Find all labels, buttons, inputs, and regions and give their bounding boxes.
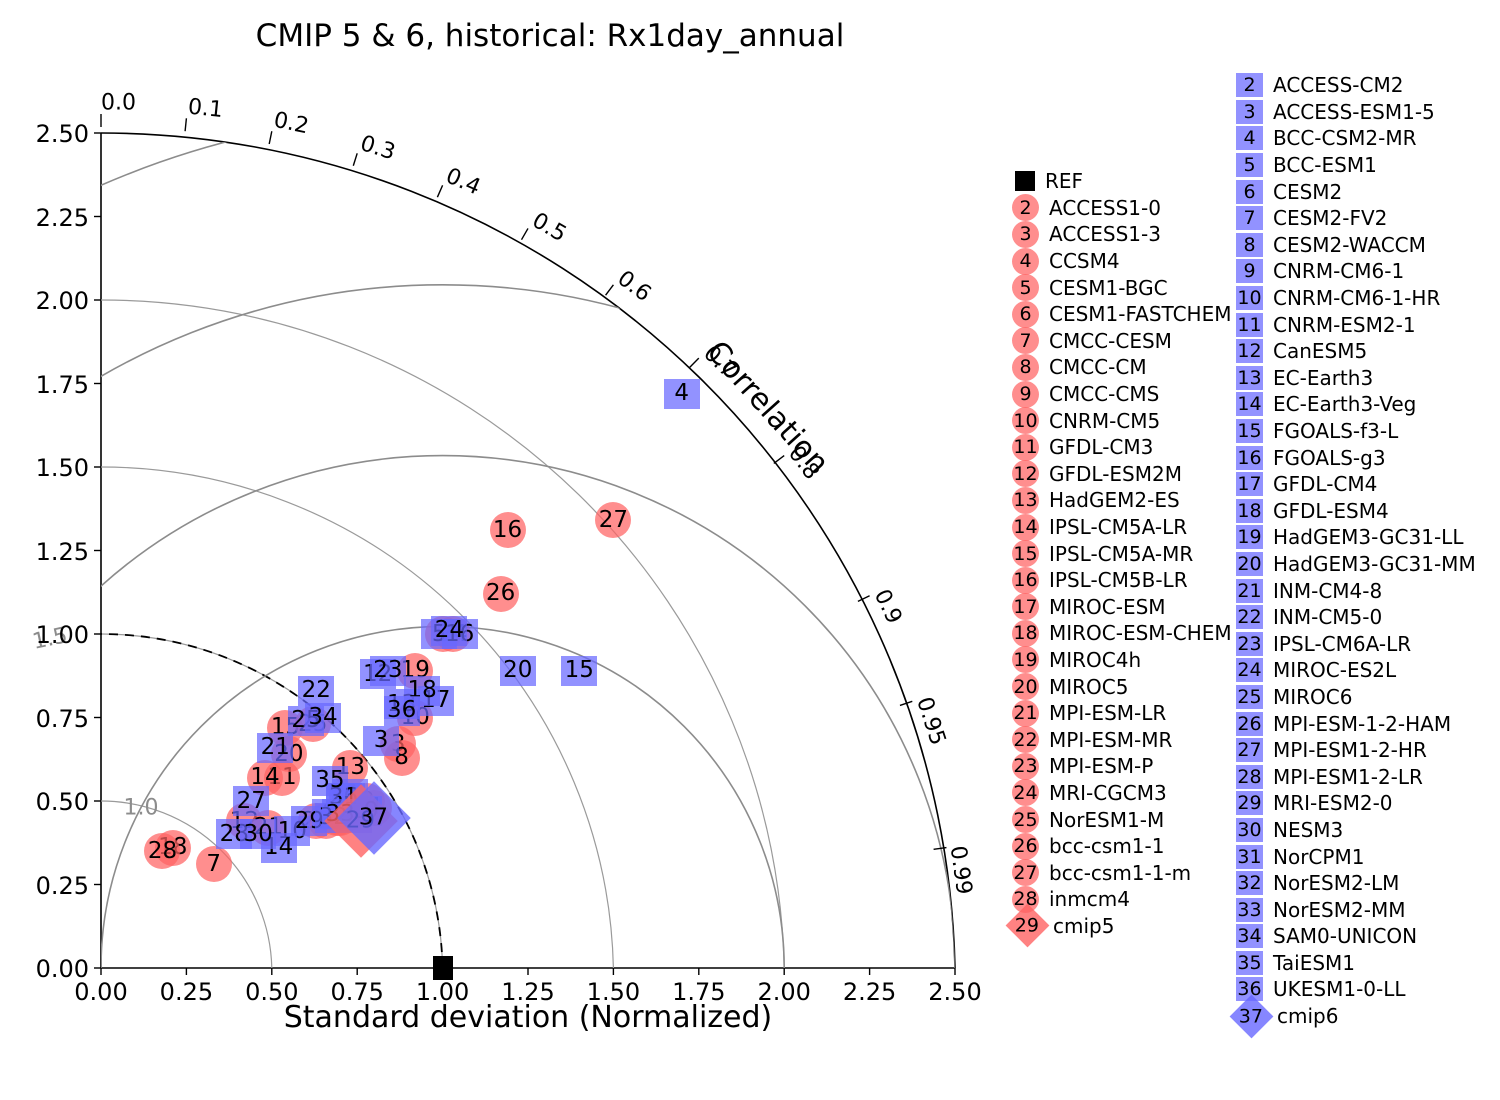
legend-item-label: INM-CM4-8 — [1273, 579, 1382, 603]
legend-item-label: GFDL-ESM4 — [1273, 499, 1389, 523]
legend-item-9[interactable]: 9CNRM-CM6-1 — [1236, 258, 1476, 285]
legend-item-label: FGOALS-f3-L — [1273, 419, 1398, 443]
legend-item-4[interactable]: 4CCSM4 — [1012, 248, 1232, 275]
legend-item-label: IPSL-CM6A-LR — [1273, 632, 1411, 656]
cmip6-square-icon: 22 — [1236, 605, 1263, 629]
legend-item-22[interactable]: 22MPI-ESM-MR — [1012, 726, 1232, 753]
data-point-label: 26 — [486, 582, 515, 605]
ref-square-icon — [1015, 171, 1035, 191]
legend-item-label: REF — [1045, 169, 1083, 193]
cmip6-square-icon: 13 — [1236, 366, 1263, 390]
cmip6-square-icon: 4 — [1236, 126, 1263, 150]
cmip6-square-icon: 7 — [1236, 206, 1263, 230]
legend-item-6[interactable]: 6CESM1-FASTCHEM — [1012, 301, 1232, 328]
cmip6-square-icon: 2 — [1236, 73, 1263, 97]
legend-item-5[interactable]: 5CESM1-BGC — [1012, 274, 1232, 301]
data-point-label: 23 — [373, 659, 402, 682]
legend-item-26[interactable]: 26bcc-csm1-1 — [1012, 833, 1232, 860]
legend-item-label: EC-Earth3 — [1273, 366, 1373, 390]
legend-item-10[interactable]: 10CNRM-CM5 — [1012, 407, 1232, 434]
cmip5-circle-icon: 20 — [1012, 673, 1039, 700]
legend-item-19[interactable]: 19HadGEM3-GC31-LL — [1236, 524, 1476, 551]
legend-item-label: MRI-ESM2-0 — [1273, 791, 1393, 815]
data-point-label: 34 — [308, 706, 337, 729]
cmip5-circle-icon: 8 — [1012, 354, 1039, 381]
legend-item-label: MIROC4h — [1049, 648, 1141, 672]
legend-item-label: CNRM-CM5 — [1049, 409, 1160, 433]
legend-item-11[interactable]: 11GFDL-CM3 — [1012, 434, 1232, 461]
legend-item-21[interactable]: 21INM-CM4-8 — [1236, 577, 1476, 604]
legend-item-37[interactable]: 37cmip6 — [1236, 1003, 1476, 1030]
correlation-tick — [437, 185, 442, 197]
legend-item-8[interactable]: 8CESM2-WACCM — [1236, 232, 1476, 259]
legend-item-12[interactable]: 12GFDL-ESM2M — [1012, 461, 1232, 488]
data-point-label: 27 — [599, 509, 628, 532]
legend-item-14[interactable]: 14EC-Earth3-Veg — [1236, 391, 1476, 418]
y-tick-label: 0.25 — [0, 872, 89, 900]
legend-item-label: GFDL-CM3 — [1049, 435, 1153, 459]
legend-item-label: CESM1-FASTCHEM — [1049, 302, 1231, 326]
data-point-22[interactable]: 22 — [298, 676, 334, 706]
cmip6-square-icon: 19 — [1236, 525, 1263, 549]
cmip6-square-icon: 25 — [1236, 685, 1263, 709]
legend-item-label: IPSL-CM5A-MR — [1049, 542, 1193, 566]
data-point-21[interactable]: 21 — [257, 733, 293, 763]
cmip6-square-icon: 21 — [1236, 579, 1263, 603]
legend-item-28[interactable]: 28inmcm4 — [1012, 886, 1232, 913]
legend-item-label: bcc-csm1-1-m — [1049, 861, 1191, 885]
legend-cmip5: REF2ACCESS1-03ACCESS1-34CCSM45CESM1-BGC6… — [1012, 168, 1232, 939]
legend-item-label: cmip6 — [1277, 1004, 1338, 1028]
legend-item-8[interactable]: 8CMCC-CM — [1012, 354, 1232, 381]
cmip5-circle-icon: 3 — [1012, 221, 1039, 248]
legend-item-label: MRI-CGCM3 — [1049, 781, 1167, 805]
legend-item-label: CMCC-CM — [1049, 355, 1147, 379]
legend-item-13[interactable]: 13HadGEM2-ES — [1012, 487, 1232, 514]
legend-item-label: CNRM-CM6-1-HR — [1273, 286, 1440, 310]
data-point-36[interactable]: 36 — [384, 696, 420, 726]
legend-item-label: BCC-ESM1 — [1273, 153, 1377, 177]
cmip6-square-icon: 16 — [1236, 446, 1263, 470]
legend-item-16[interactable]: 16FGOALS-g3 — [1236, 444, 1476, 471]
rms-arc-label: 1.0 — [123, 795, 158, 820]
legend-item-32[interactable]: 32NorESM2-LM — [1236, 870, 1476, 897]
legend-item-10[interactable]: 10CNRM-CM6-1-HR — [1236, 285, 1476, 312]
cmip5-circle-icon: 11 — [1012, 434, 1039, 461]
cmip6-square-icon: 32 — [1236, 871, 1263, 895]
cmip5-circle-icon: 26 — [1012, 833, 1039, 860]
legend-item-label: HadGEM3-GC31-LL — [1273, 525, 1463, 549]
data-point-35[interactable]: 35 — [312, 766, 348, 796]
legend-item-label: MPI-ESM-LR — [1049, 701, 1166, 725]
legend-item-25[interactable]: 25MIROC6 — [1236, 684, 1476, 711]
cmip5-circle-icon: 5 — [1012, 274, 1039, 301]
cmip5-circle-icon: 14 — [1012, 514, 1039, 541]
legend-item-label: CESM2 — [1273, 180, 1342, 204]
cmip6-square-icon: 31 — [1236, 845, 1263, 869]
data-point-label: 30 — [243, 823, 272, 846]
legend-item-label: SAM0-UNICON — [1273, 924, 1417, 948]
legend-item-label: MPI-ESM-P — [1049, 754, 1153, 778]
data-point-label: 3 — [374, 729, 389, 752]
legend-item-label: INM-CM5-0 — [1273, 605, 1382, 629]
legend-item-label: ACCESS-CM2 — [1273, 73, 1403, 97]
legend-item-label: UKESM1-0-LL — [1273, 977, 1406, 1001]
legend-item-15[interactable]: 15IPSL-CM5A-MR — [1012, 540, 1232, 567]
data-point-label: 36 — [387, 699, 416, 722]
y-tick-label: 2.00 — [0, 287, 89, 315]
legend-item-24[interactable]: 24MRI-CGCM3 — [1012, 780, 1232, 807]
cmip6-square-icon: 8 — [1236, 233, 1263, 257]
legend-item-26[interactable]: 26MPI-ESM-1-2-HAM — [1236, 710, 1476, 737]
x-axis-label: Standard deviation (Normalized) — [101, 1000, 955, 1035]
cmip6-square-icon: 28 — [1236, 765, 1263, 789]
legend-item-7[interactable]: 7CMCC-CESM — [1012, 328, 1232, 355]
legend-item-label: MIROC-ESM — [1049, 595, 1166, 619]
legend-item-9[interactable]: 9CMCC-CMS — [1012, 381, 1232, 408]
y-tick-label: 1.25 — [0, 538, 89, 566]
legend-item-label: GFDL-CM4 — [1273, 472, 1377, 496]
correlation-tick — [269, 131, 272, 144]
legend-item-label: CESM2-FV2 — [1273, 206, 1387, 230]
legend-item-18[interactable]: 18MIROC-ESM-CHEM — [1012, 620, 1232, 647]
cmip5-circle-icon: 24 — [1012, 779, 1039, 806]
data-point-7[interactable]: 7 — [196, 846, 232, 882]
legend-item-20[interactable]: 20HadGEM3-GC31-MM — [1236, 551, 1476, 578]
legend-item-22[interactable]: 22INM-CM5-0 — [1236, 604, 1476, 631]
legend-item-3[interactable]: 3ACCESS-ESM1-5 — [1236, 99, 1476, 126]
cmip5-circle-icon: 10 — [1012, 407, 1039, 434]
legend-item-label: bcc-csm1-1 — [1049, 834, 1164, 858]
data-point-label: 27 — [237, 790, 266, 813]
legend-item-12[interactable]: 12CanESM5 — [1236, 338, 1476, 365]
data-point-label: 21 — [261, 736, 290, 759]
reference-marker[interactable] — [433, 956, 453, 980]
cmip6-square-icon: 17 — [1236, 472, 1263, 496]
legend-item-label: cmip5 — [1053, 914, 1114, 938]
data-point-label: 20 — [503, 659, 532, 682]
legend-item-11[interactable]: 11CNRM-ESM2-1 — [1236, 311, 1476, 338]
legend-item-16[interactable]: 16IPSL-CM5B-LR — [1012, 567, 1232, 594]
legend-item-4[interactable]: 4BCC-CSM2-MR — [1236, 125, 1476, 152]
legend-item-20[interactable]: 20MIROC5 — [1012, 673, 1232, 700]
legend-item-5[interactable]: 5BCC-ESM1 — [1236, 152, 1476, 179]
legend-item-ref[interactable]: REF — [1012, 168, 1232, 195]
data-point-4[interactable]: 4 — [664, 379, 700, 409]
legend-item-6[interactable]: 6CESM2 — [1236, 178, 1476, 205]
correlation-tick-label: 0.1 — [186, 95, 223, 123]
legend-item-label: inmcm4 — [1049, 887, 1130, 911]
data-point-label: 4 — [674, 382, 689, 405]
cmip6-square-icon: 23 — [1236, 632, 1263, 656]
cmip6-square-icon: 10 — [1236, 286, 1263, 310]
std-grid-arc — [101, 467, 613, 968]
legend-item-29[interactable]: 29MRI-ESM2-0 — [1236, 790, 1476, 817]
legend-item-34[interactable]: 34SAM0-UNICON — [1236, 923, 1476, 950]
legend-item-label: CESM2-WACCM — [1273, 233, 1426, 257]
legend-item-label: CNRM-CM6-1 — [1273, 259, 1404, 283]
legend-item-label: NorESM1-M — [1049, 808, 1164, 832]
data-point-label: 35 — [315, 769, 344, 792]
y-tick-label: 0.75 — [0, 705, 89, 733]
cmip5-circle-icon: 22 — [1012, 726, 1039, 753]
data-point-28[interactable]: 28 — [144, 833, 180, 869]
cmip6-square-icon: 11 — [1236, 313, 1263, 337]
legend-item-23[interactable]: 23MPI-ESM-P — [1012, 753, 1232, 780]
legend-item-label: ACCESS-ESM1-5 — [1273, 100, 1435, 124]
legend-item-label: HadGEM2-ES — [1049, 488, 1180, 512]
cmip5-circle-icon: 16 — [1012, 567, 1039, 594]
legend-item-label: CanESM5 — [1273, 339, 1367, 363]
cmip6-square-icon: 33 — [1236, 898, 1263, 922]
legend-item-label: MPI-ESM-MR — [1049, 728, 1172, 752]
cmip5-circle-icon: 15 — [1012, 540, 1039, 567]
cmip6-square-icon: 15 — [1236, 419, 1263, 443]
legend-item-27[interactable]: 27MPI-ESM1-2-HR — [1236, 737, 1476, 764]
cmip6-square-icon: 14 — [1236, 392, 1263, 416]
legend-item-25[interactable]: 25NorESM1-M — [1012, 806, 1232, 833]
data-point-label: 22 — [302, 679, 331, 702]
cmip5-circle-icon: 17 — [1012, 593, 1039, 620]
cmip6-square-icon: 3 — [1236, 100, 1263, 124]
legend-item-label: MIROC6 — [1273, 685, 1352, 709]
cmip6-square-icon: 20 — [1236, 552, 1263, 576]
legend-item-28[interactable]: 28MPI-ESM1-2-LR — [1236, 763, 1476, 790]
cmip6-square-icon: 34 — [1236, 924, 1263, 948]
legend-item-label: TaiESM1 — [1273, 951, 1355, 975]
y-tick-label: 0.50 — [0, 788, 89, 816]
cmip5-circle-icon: 4 — [1012, 248, 1039, 275]
data-point-label: 28 — [148, 840, 177, 863]
legend-item-3[interactable]: 3ACCESS1-3 — [1012, 221, 1232, 248]
cmip5-circle-icon: 7 — [1012, 327, 1039, 354]
taylor-diagram-page: CMIP 5 & 6, historical: Rx1day_annual 2.… — [0, 0, 1500, 1100]
legend-item-24[interactable]: 24MIROC-ES2L — [1236, 657, 1476, 684]
legend-item-label: ACCESS1-0 — [1049, 196, 1161, 220]
legend-item-label: MIROC-ES2L — [1273, 658, 1396, 682]
cmip5-circle-icon: 12 — [1012, 460, 1039, 487]
y-tick-label: 2.50 — [0, 120, 89, 148]
y-tick-label: 1.50 — [0, 454, 89, 482]
legend-item-label: CNRM-ESM2-1 — [1273, 313, 1416, 337]
legend-item-18[interactable]: 18GFDL-ESM4 — [1236, 498, 1476, 525]
data-point-label: 37 — [360, 806, 389, 829]
data-point-27[interactable]: 27 — [595, 502, 631, 538]
cmip5-circle-icon: 27 — [1012, 859, 1039, 886]
correlation-tick — [690, 358, 699, 367]
data-point-24[interactable]: 24 — [431, 616, 467, 646]
cmip6-square-icon: 26 — [1236, 712, 1263, 736]
legend-item-label: IPSL-CM5B-LR — [1049, 568, 1188, 592]
y-tick-label: 1.00 — [0, 621, 89, 649]
cmip6-square-icon: 18 — [1236, 499, 1263, 523]
y-tick-label: 0.00 — [0, 955, 89, 983]
legend-item-35[interactable]: 35TaiESM1 — [1236, 950, 1476, 977]
legend-item-label: GFDL-ESM2M — [1049, 462, 1182, 486]
y-tick-label: 1.75 — [0, 371, 89, 399]
legend-item-label: MPI-ESM1-2-HR — [1273, 738, 1427, 762]
legend-item-label: NorESM2-LM — [1273, 871, 1399, 895]
legend-item-2[interactable]: 2ACCESS1-0 — [1012, 195, 1232, 222]
data-point-label: 7 — [206, 853, 221, 876]
data-point-26[interactable]: 26 — [483, 576, 519, 612]
cmip6-square-icon: 9 — [1236, 259, 1263, 283]
cmip6-square-icon: 27 — [1236, 738, 1263, 762]
cmip6-square-icon: 6 — [1236, 180, 1263, 204]
cmip5-circle-icon: 2 — [1012, 194, 1039, 221]
legend-item-label: MIROC-ESM-CHEM — [1049, 621, 1232, 645]
legend-item-label: BCC-CSM2-MR — [1273, 126, 1417, 150]
legend-item-33[interactable]: 33NorESM2-MM — [1236, 896, 1476, 923]
data-point-label: 24 — [435, 619, 464, 642]
correlation-tick-label: 0.0 — [101, 91, 136, 116]
cmip6-square-icon: 30 — [1236, 818, 1263, 842]
data-point-15[interactable]: 15 — [561, 656, 597, 686]
legend-item-29[interactable]: 29cmip5 — [1012, 913, 1232, 940]
legend-item-21[interactable]: 21MPI-ESM-LR — [1012, 700, 1232, 727]
data-point-label: 16 — [493, 519, 522, 542]
correlation-tick — [522, 228, 529, 239]
legend-item-label: NorCPM1 — [1273, 845, 1364, 869]
legend-item-label: MPI-ESM-1-2-HAM — [1273, 712, 1451, 736]
legend-item-label: MIROC5 — [1049, 675, 1128, 699]
cmip6-square-icon: 24 — [1236, 658, 1263, 682]
legend-item-label: IPSL-CM5A-LR — [1049, 515, 1187, 539]
legend-item-30[interactable]: 30NESM3 — [1236, 817, 1476, 844]
cmip5-circle-icon: 18 — [1012, 620, 1039, 647]
data-point-16[interactable]: 16 — [490, 512, 526, 548]
legend-item-31[interactable]: 31NorCPM1 — [1236, 843, 1476, 870]
cmip6-square-icon: 29 — [1236, 791, 1263, 815]
cmip5-circle-icon: 23 — [1012, 753, 1039, 780]
legend-item-label: CMCC-CESM — [1049, 329, 1172, 353]
legend-item-17[interactable]: 17GFDL-CM4 — [1236, 471, 1476, 498]
legend-item-14[interactable]: 14IPSL-CM5A-LR — [1012, 514, 1232, 541]
legend-item-label: EC-Earth3-Veg — [1273, 392, 1416, 416]
data-point-34[interactable]: 34 — [305, 703, 341, 733]
legend-cmip6: 2ACCESS-CM23ACCESS-ESM1-54BCC-CSM2-MR5BC… — [1236, 72, 1476, 1029]
legend-item-36[interactable]: 36UKESM1-0-LL — [1236, 976, 1476, 1003]
data-point-30[interactable]: 30 — [240, 819, 276, 849]
legend-item-2[interactable]: 2ACCESS-CM2 — [1236, 72, 1476, 99]
cmip6-square-icon: 35 — [1236, 951, 1263, 975]
legend-item-label: CCSM4 — [1049, 249, 1120, 273]
legend-item-label: FGOALS-g3 — [1273, 446, 1386, 470]
data-point-label: 15 — [565, 659, 594, 682]
legend-item-17[interactable]: 17MIROC-ESM — [1012, 594, 1232, 621]
cmip6-square-icon: 5 — [1236, 153, 1263, 177]
cmip5-circle-icon: 13 — [1012, 487, 1039, 514]
cmip5-circle-icon: 19 — [1012, 646, 1039, 673]
data-point-27[interactable]: 27 — [233, 786, 269, 816]
legend-item-19[interactable]: 19MIROC4h — [1012, 647, 1232, 674]
correlation-tick — [353, 153, 357, 165]
legend-item-label: CESM1-BGC — [1049, 276, 1168, 300]
legend-item-23[interactable]: 23IPSL-CM6A-LR — [1236, 630, 1476, 657]
cmip5-circle-icon: 9 — [1012, 381, 1039, 408]
cmip5-circle-icon: 25 — [1012, 806, 1039, 833]
cmip5-circle-icon: 6 — [1012, 301, 1039, 328]
cmip5-circle-icon: 21 — [1012, 700, 1039, 727]
legend-item-label: ACCESS1-3 — [1049, 222, 1161, 246]
taylor-plot-area: 2.52.01.51.00.00.10.20.30.40.50.60.70.80… — [0, 0, 1020, 1060]
cmip6-square-icon: 12 — [1236, 339, 1263, 363]
legend-item-13[interactable]: 13EC-Earth3 — [1236, 365, 1476, 392]
data-point-3[interactable]: 3 — [363, 726, 399, 756]
legend-item-label: MPI-ESM1-2-LR — [1273, 765, 1423, 789]
legend-item-27[interactable]: 27bcc-csm1-1-m — [1012, 859, 1232, 886]
legend-item-label: NorESM2-MM — [1273, 898, 1405, 922]
data-point-23[interactable]: 23 — [370, 656, 406, 686]
legend-item-15[interactable]: 15FGOALS-f3-L — [1236, 418, 1476, 445]
legend-item-label: NESM3 — [1273, 818, 1343, 842]
legend-item-label: HadGEM3-GC31-MM — [1273, 552, 1476, 576]
y-tick-label: 2.25 — [0, 204, 89, 232]
data-point-20[interactable]: 20 — [500, 656, 536, 686]
legend-item-label: CMCC-CMS — [1049, 382, 1159, 406]
legend-item-7[interactable]: 7CESM2-FV2 — [1236, 205, 1476, 232]
correlation-tick — [185, 118, 186, 131]
